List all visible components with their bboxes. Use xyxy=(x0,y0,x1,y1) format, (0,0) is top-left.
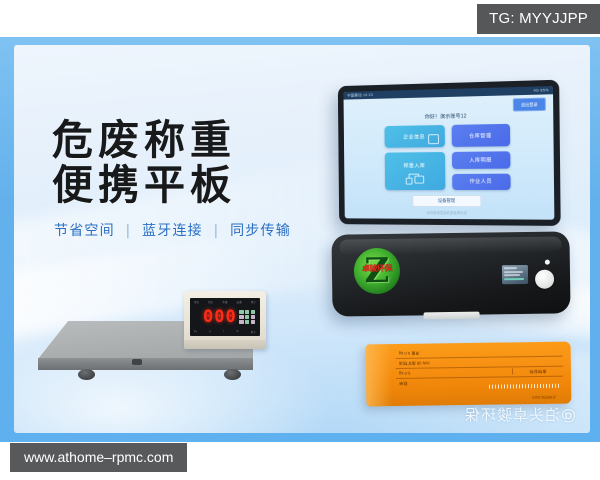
label-footnote: 打印时间 2023 xyxy=(532,394,555,399)
scale-platform-edge xyxy=(38,358,253,370)
weibo-watermark: @泊头卓骏环保 xyxy=(464,404,576,425)
label-key: 废物名称 xyxy=(512,368,563,375)
telegram-handle-badge: TG: MYYJJPP xyxy=(477,4,600,34)
annunciator-row-bottom: kg g t lb 累计 xyxy=(193,330,257,334)
logo-brand-text: 卓骏环保 xyxy=(354,263,400,275)
power-button[interactable] xyxy=(535,270,554,289)
scale-icon xyxy=(405,172,425,185)
annunciator: lb xyxy=(236,330,238,334)
status-bar-right: 4G 85% xyxy=(533,88,548,93)
indicator-readout-area: 000 xyxy=(193,309,257,326)
keypad-key[interactable] xyxy=(239,310,243,314)
tile-weigh-inbound[interactable]: 称重入库 xyxy=(384,152,445,190)
scale-foot xyxy=(78,369,95,380)
keypad-key[interactable] xyxy=(251,315,255,319)
website-watermark-badge: www.athome–rpmc.com xyxy=(10,443,187,472)
keypad-key[interactable] xyxy=(245,310,249,314)
annunciator: 净重 xyxy=(222,300,227,304)
annunciator: g xyxy=(209,330,211,334)
feature-item-3: 同步传输 xyxy=(230,223,291,239)
logout-button[interactable]: 退出登录 xyxy=(513,98,546,112)
tile-enterprise-info[interactable]: 企业信息 xyxy=(384,125,444,148)
headline-line-2: 便携平板 xyxy=(52,163,291,208)
annunciator: 稳定 xyxy=(208,300,213,304)
label-value: 净重 5.0 kg xyxy=(396,348,563,356)
brand-logo: Z 卓骏环保 xyxy=(354,248,401,295)
poster-canvas: 危废称重 便携平板 节省空间 | 蓝牙连接 | 同步传输 中国移动 10:23 … xyxy=(14,45,590,433)
weight-readout: 000 xyxy=(203,309,237,326)
status-bar-left: 中国移动 10:23 xyxy=(347,92,373,98)
app-footnote: 危险废物智能称重管理系统 xyxy=(352,211,546,217)
label-value: 5.0 kg xyxy=(396,369,512,376)
headline-block: 危废称重 便携平板 节省空间 | 蓝牙连接 | 同步传输 xyxy=(52,118,291,240)
tile-grid: 企业信息 仓库管理 称重入库 xyxy=(351,123,545,190)
tile-label: 仓库管理 xyxy=(469,132,492,139)
label-content-table: 联单 废物名称 5.0 kg HW 08 废矿物油 净重 5.0 kg xyxy=(396,347,564,388)
barcode-strip xyxy=(487,384,559,389)
tile-inbound-detail[interactable]: 入库明细 xyxy=(451,151,510,168)
tile-label: 入库明细 xyxy=(469,156,492,163)
keypad-key[interactable] xyxy=(251,310,255,314)
keypad-key[interactable] xyxy=(245,315,249,319)
tablet-screen: 中国移动 10:23 4G 85% 退出登录 你好！演示账号12 企业信息 仓库… xyxy=(343,86,554,220)
device-management-button[interactable]: 设备管理 xyxy=(412,195,481,207)
tile-label: 称重入库 xyxy=(403,162,425,169)
label-line xyxy=(504,274,520,276)
feature-item-2: 蓝牙连接 xyxy=(142,223,203,239)
keypad-key[interactable] xyxy=(239,315,243,319)
weight-indicator-head: 零位 稳定 净重 皮重 累计 000 xyxy=(184,291,266,349)
label-value: HW 08 废矿物油 xyxy=(396,358,563,366)
scale-foot xyxy=(224,369,241,380)
tablet-app-body: 退出登录 你好！演示账号12 企业信息 仓库管理 称重入库 xyxy=(344,94,555,216)
indicator-display-panel: 零位 稳定 净重 皮重 累计 000 xyxy=(190,298,260,336)
annunciator: 皮重 xyxy=(237,300,242,304)
tile-label: 作业人员 xyxy=(469,178,492,185)
annunciator: 零位 xyxy=(194,300,199,304)
indicator-base xyxy=(184,340,266,349)
label-curl-highlight xyxy=(366,344,393,406)
poster-frame: 危废称重 便携平板 节省空间 | 蓝牙连接 | 同步传输 中国移动 10:23 … xyxy=(0,37,600,442)
tile-operators[interactable]: 作业人员 xyxy=(452,173,511,190)
tablet-device: 中国移动 10:23 4G 85% 退出登录 你好！演示账号12 企业信息 仓库… xyxy=(338,80,561,226)
tile-right-stack: 入库明细 作业人员 xyxy=(451,151,510,190)
annunciator: 累计 xyxy=(251,330,256,334)
keypad-key[interactable] xyxy=(245,320,249,324)
printer-status-label xyxy=(502,265,528,284)
greeting-text: 你好！演示账号12 xyxy=(351,111,545,122)
paper-output-slot xyxy=(424,312,480,320)
annunciator-row-top: 零位 稳定 净重 皮重 累计 xyxy=(193,300,257,304)
headline-line-1: 危废称重 xyxy=(52,118,291,163)
label-line xyxy=(504,267,517,269)
scale-cable-port xyxy=(132,359,142,365)
printed-label-roll: 联单 废物名称 5.0 kg HW 08 废矿物油 净重 5.0 kg 打印时间… xyxy=(366,342,572,407)
keypad-key[interactable] xyxy=(239,320,243,324)
keypad-key[interactable] xyxy=(251,320,255,324)
annunciator: 累计 xyxy=(251,300,256,304)
status-led-indicator xyxy=(545,260,550,265)
label-line xyxy=(504,278,524,280)
tile-warehouse-management[interactable]: 仓库管理 xyxy=(451,124,510,147)
feature-separator-2: | xyxy=(214,223,220,239)
annunciator: t xyxy=(223,330,224,334)
feature-separator-1: | xyxy=(125,223,131,239)
building-icon xyxy=(428,134,439,144)
feature-subtitle: 节省空间 | 蓝牙连接 | 同步传输 xyxy=(54,220,291,240)
annunciator: kg xyxy=(194,330,197,334)
floor-scale-device: 零位 稳定 净重 皮重 累计 000 xyxy=(32,283,282,398)
indicator-keypad[interactable] xyxy=(239,310,255,323)
tile-label: 企业信息 xyxy=(403,133,425,140)
label-line xyxy=(504,271,523,273)
feature-item-1: 节省空间 xyxy=(54,223,115,239)
portable-printer-device: Z 卓骏环保 xyxy=(331,231,570,316)
